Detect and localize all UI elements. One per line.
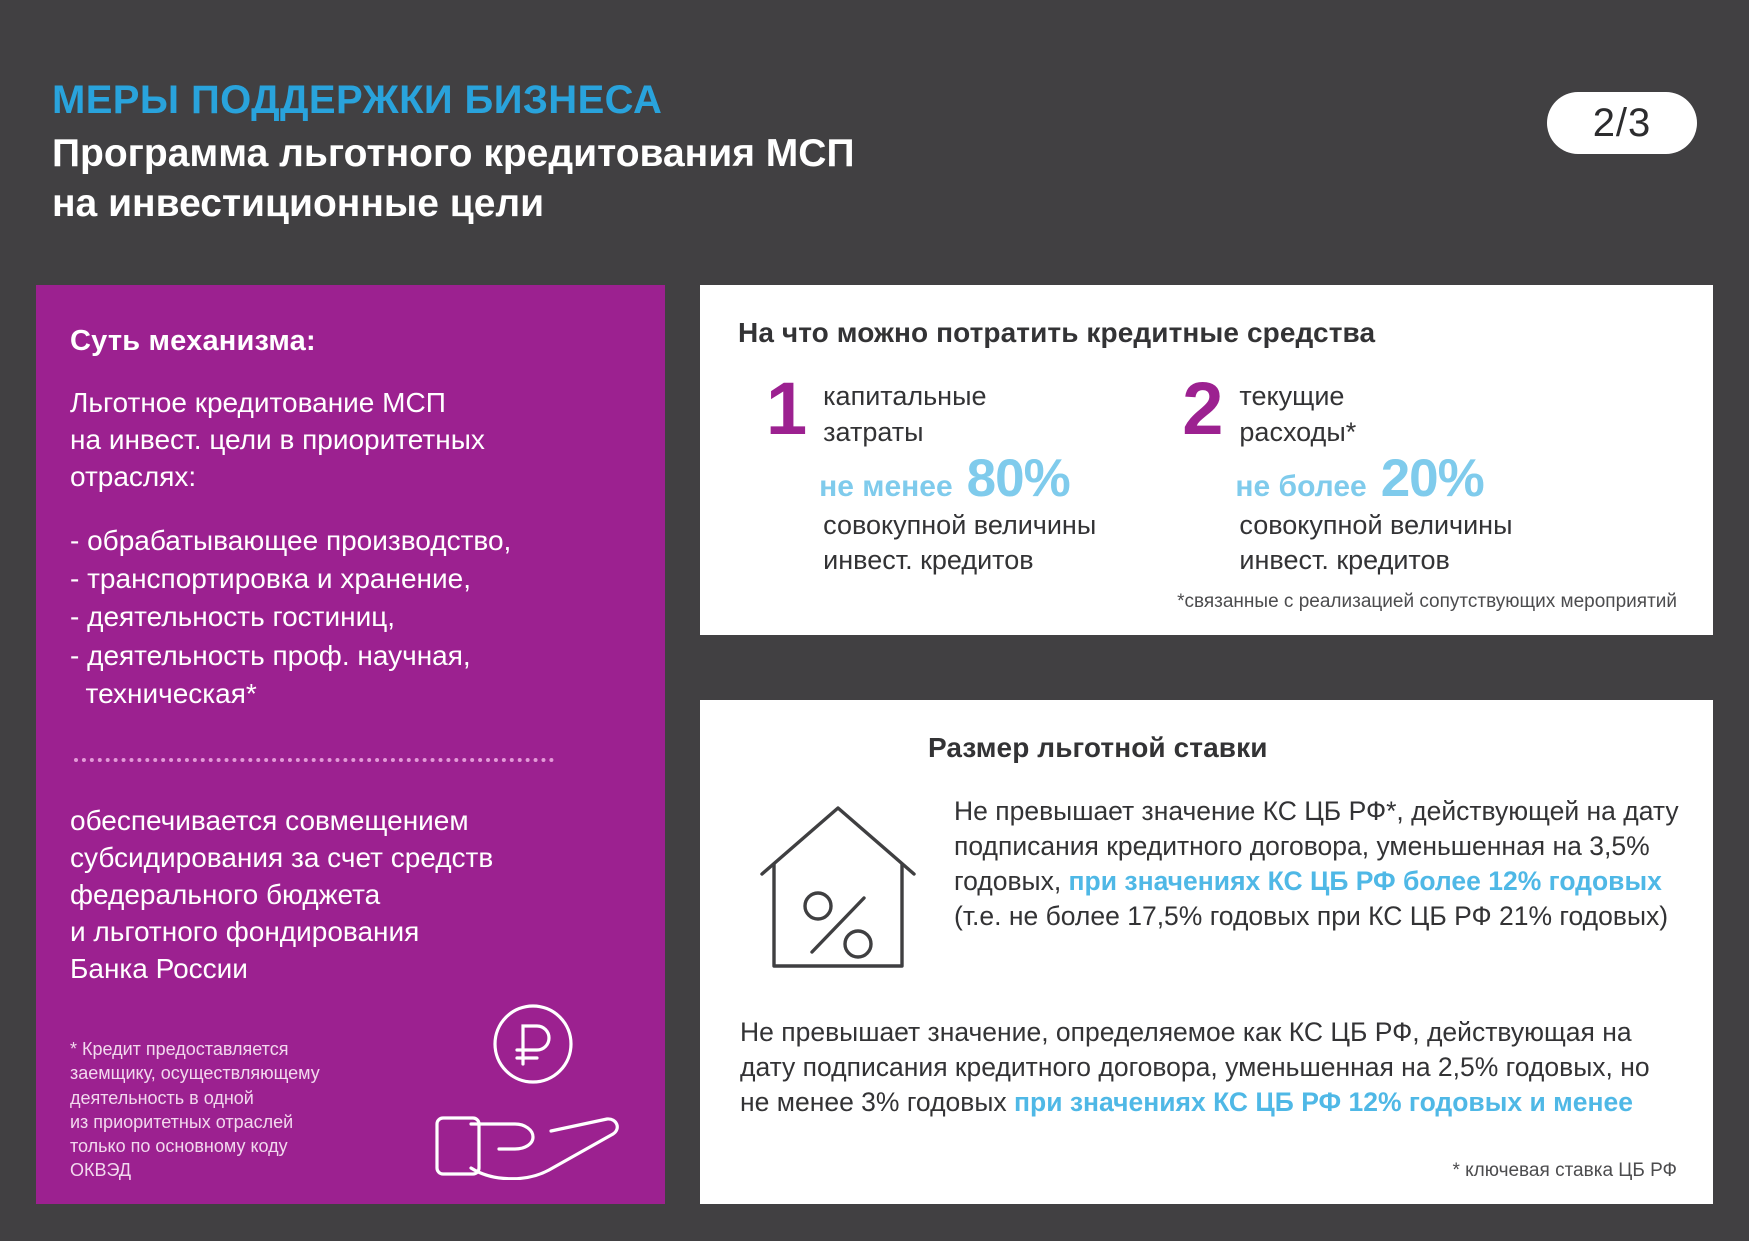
spend-item-2-percent: не более 20% — [1235, 452, 1512, 507]
spend-item-1: 1 капитальныезатраты не менее 80% совоку… — [766, 379, 1096, 578]
mechanism-panel: Суть механизма: Льготное кредитование МС… — [36, 285, 665, 1204]
spend-item-2: 2 текущиерасходы* не более 20% совокупно… — [1182, 379, 1512, 578]
page-title-line-2: на инвестиционные цели — [52, 182, 544, 225]
rate-card-footnote: * ключевая ставка ЦБ РФ — [1452, 1160, 1677, 1182]
list-item: - обрабатывающее производство, — [70, 522, 631, 560]
list-item: - деятельность проф. научная, — [70, 637, 631, 675]
spend-item-1-number: 1 — [766, 379, 805, 578]
rate-card-title: Размер льготной ставки — [928, 732, 1679, 764]
spend-card: На что можно потратить кредитные средств… — [700, 285, 1713, 635]
slide-root: МЕРЫ ПОДДЕРЖКИ БИЗНЕСА Программа льготно… — [0, 0, 1749, 1241]
rate-paragraph-1-content: Не превышает значение КС ЦБ РФ*, действу… — [954, 794, 1679, 934]
rate-p2-highlight: при значениях КС ЦБ РФ 12% годовых и мен… — [1014, 1087, 1633, 1117]
spend-item-2-sub: совокупной величиныинвест. кредитов — [1239, 508, 1512, 578]
mechanism-intro: Льготное кредитование МСПна инвест. цели… — [70, 384, 631, 496]
spend-card-footnote: *связанные с реализацией сопутствующих м… — [1177, 591, 1677, 613]
spend-item-1-percent: не менее 80% — [819, 452, 1096, 507]
spend-item-1-head: капитальныезатраты — [823, 379, 1096, 450]
hand-with-ruble-icon — [415, 1000, 631, 1180]
spend-item-2-percent-label: не более — [1235, 467, 1366, 507]
rate-card: Размер льготной ставки Не превышает знач… — [700, 700, 1713, 1204]
list-item: - транспортировка и хранение, — [70, 560, 631, 598]
spend-item-1-percent-value: 80% — [967, 452, 1070, 505]
rate-p1-part2: (т.е. не более 17,5% годовых при КС ЦБ Р… — [954, 901, 1668, 931]
spend-item-1-text: капитальныезатраты не менее 80% совокупн… — [823, 379, 1096, 578]
rate-paragraph-1: Не превышает значение КС ЦБ РФ*, действу… — [954, 794, 1679, 973]
spend-item-1-percent-label: не менее — [819, 467, 953, 507]
spend-item-2-percent-value: 20% — [1381, 452, 1484, 505]
page-title: Программа льготного кредитования МСП на … — [52, 129, 1052, 229]
spend-items: 1 капитальныезатраты не менее 80% совоку… — [738, 379, 1679, 578]
dotted-divider — [74, 758, 554, 762]
spend-item-2-head: текущиерасходы* — [1239, 379, 1512, 450]
page-kicker: МЕРЫ ПОДДЕРЖКИ БИЗНЕСА — [52, 78, 1232, 123]
page-title-line-1: Программа льготного кредитования МСП — [52, 132, 854, 175]
mechanism-body: обеспечивается совмещениемсубсидирования… — [70, 802, 631, 988]
spend-item-2-text: текущиерасходы* не более 20% совокупной … — [1239, 379, 1512, 578]
mechanism-title: Суть механизма: — [70, 325, 631, 358]
page-indicator-badge: 2/3 — [1547, 92, 1697, 154]
header: МЕРЫ ПОДДЕРЖКИ БИЗНЕСА Программа льготно… — [52, 78, 1232, 229]
list-item: - деятельность гостиниц, — [70, 598, 631, 636]
rate-card-body: Не превышает значение КС ЦБ РФ*, действу… — [738, 794, 1679, 973]
spend-item-2-number: 2 — [1182, 379, 1221, 578]
list-item: техническая* — [70, 675, 631, 713]
house-percent-icon — [752, 798, 924, 973]
spend-item-1-sub: совокупной величиныинвест. кредитов — [823, 508, 1096, 578]
rate-paragraph-2: Не превышает значение, определяемое как … — [738, 1015, 1679, 1120]
mechanism-footnote: * Кредит предоставляетсязаемщику, осущес… — [70, 1037, 430, 1182]
spend-card-title: На что можно потратить кредитные средств… — [738, 317, 1679, 349]
priority-industries-list: - обрабатывающее производство,- транспор… — [70, 522, 631, 714]
rate-p1-highlight: при значениях КС ЦБ РФ более 12% годовых — [1069, 866, 1662, 896]
